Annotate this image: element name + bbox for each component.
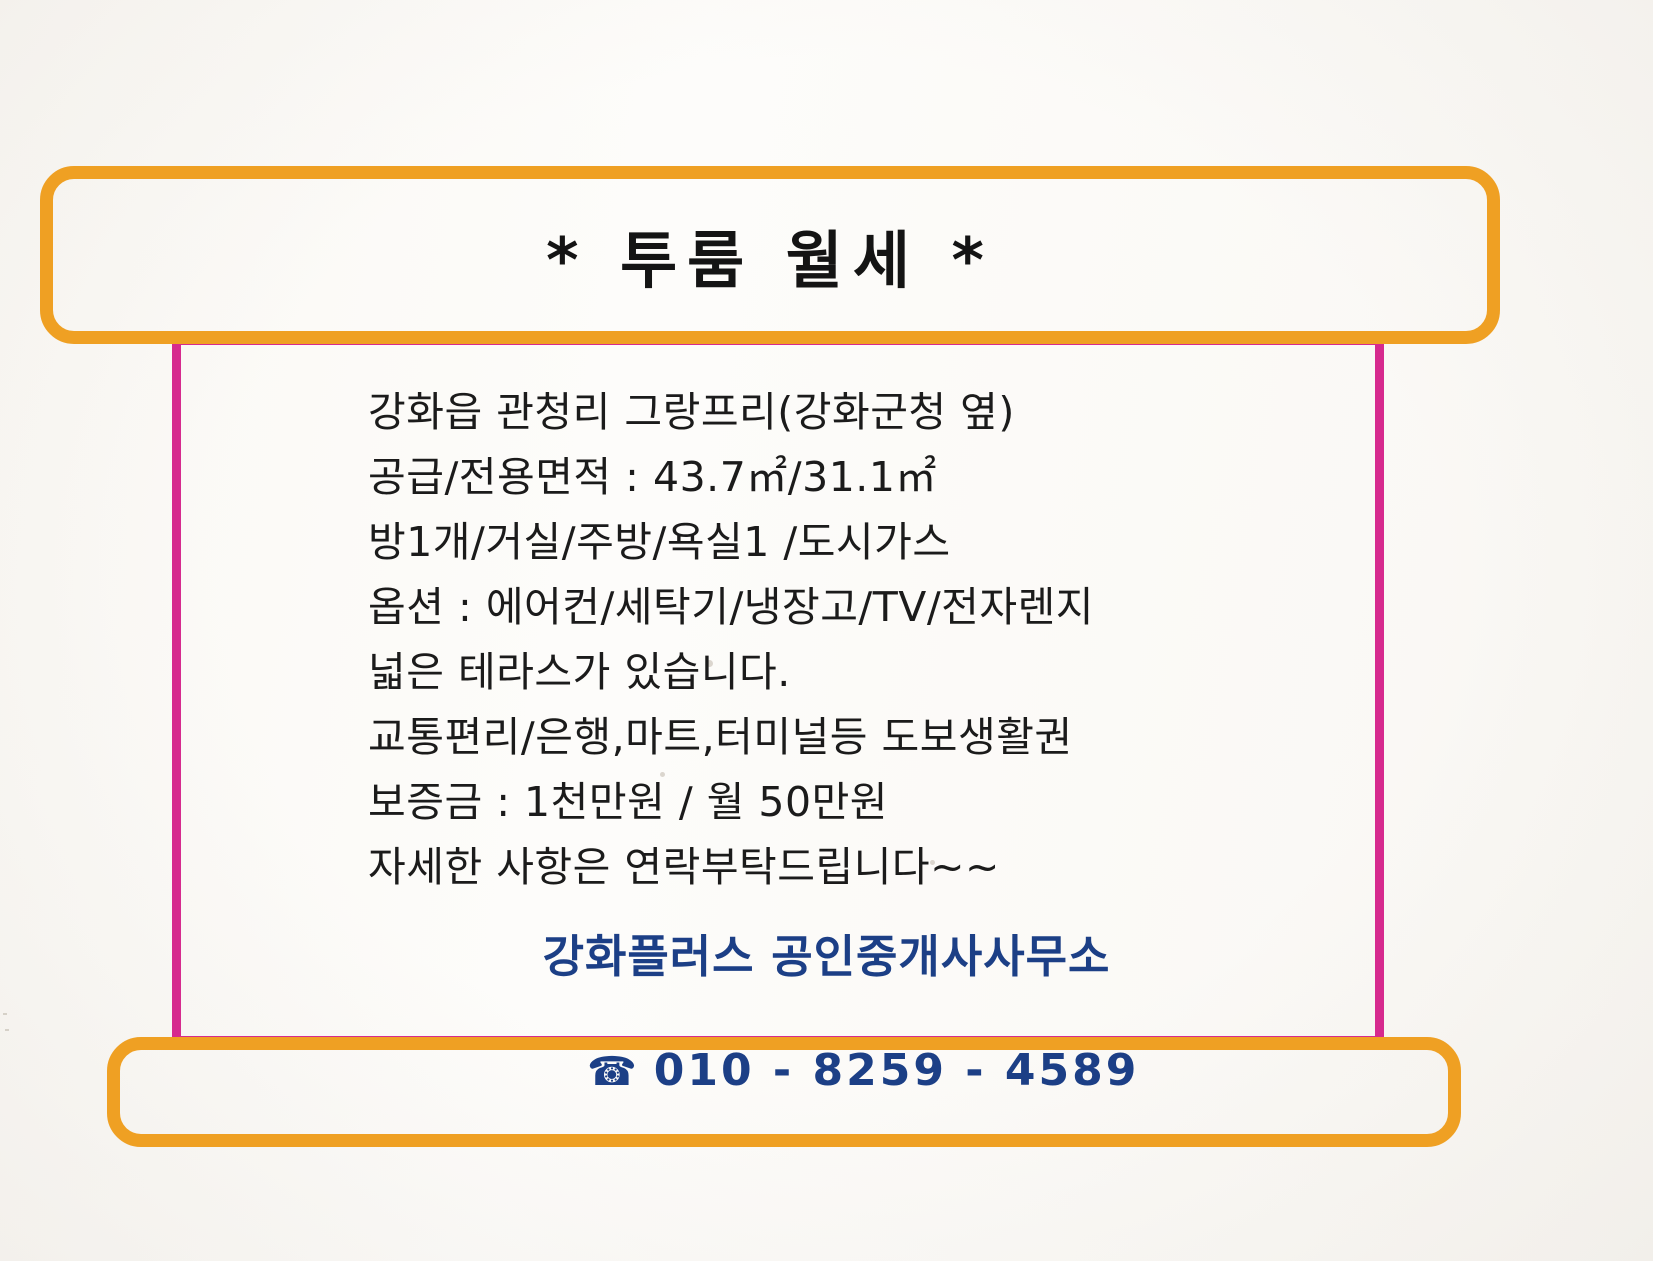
agency-name: 강화플러스 공인중개사사무소	[0, 920, 1653, 985]
listing-line-closing: 자세한 사항은 연락부탁드립니다~~	[368, 835, 1368, 900]
page-title: * 투룸 월세 *	[40, 166, 1500, 344]
flyer-page: * 투룸 월세 * 강화읍 관청리 그랑프리(강화군청 옆) 공급/전용면적 :…	[0, 0, 1653, 1261]
listing-line-price: 보증금 : 1천만원 / 월 50만원	[368, 770, 1368, 835]
listing-line-area: 공급/전용면적 : 43.7㎡/31.1㎡	[368, 445, 1368, 510]
listing-line-options: 옵션 : 에어컨/세탁기/냉장고/TV/전자렌지	[368, 575, 1368, 640]
listing-body: 강화읍 관청리 그랑프리(강화군청 옆) 공급/전용면적 : 43.7㎡/31.…	[368, 380, 1368, 900]
agency-phone-row[interactable]: ☎010 - 8259 - 4589	[0, 994, 1653, 1147]
agency-phone-number[interactable]: 010 - 8259 - 4589	[654, 1045, 1140, 1096]
listing-line-address: 강화읍 관청리 그랑프리(강화군청 옆)	[368, 380, 1368, 445]
listing-line-rooms: 방1개/거실/주방/욕실1 /도시가스	[368, 510, 1368, 575]
listing-line-terrace: 넓은 테라스가 있습니다.	[368, 640, 1368, 705]
listing-line-transport: 교통편리/은행,마트,터미널등 도보생활권	[368, 705, 1368, 770]
telephone-icon: ☎	[587, 1049, 640, 1095]
